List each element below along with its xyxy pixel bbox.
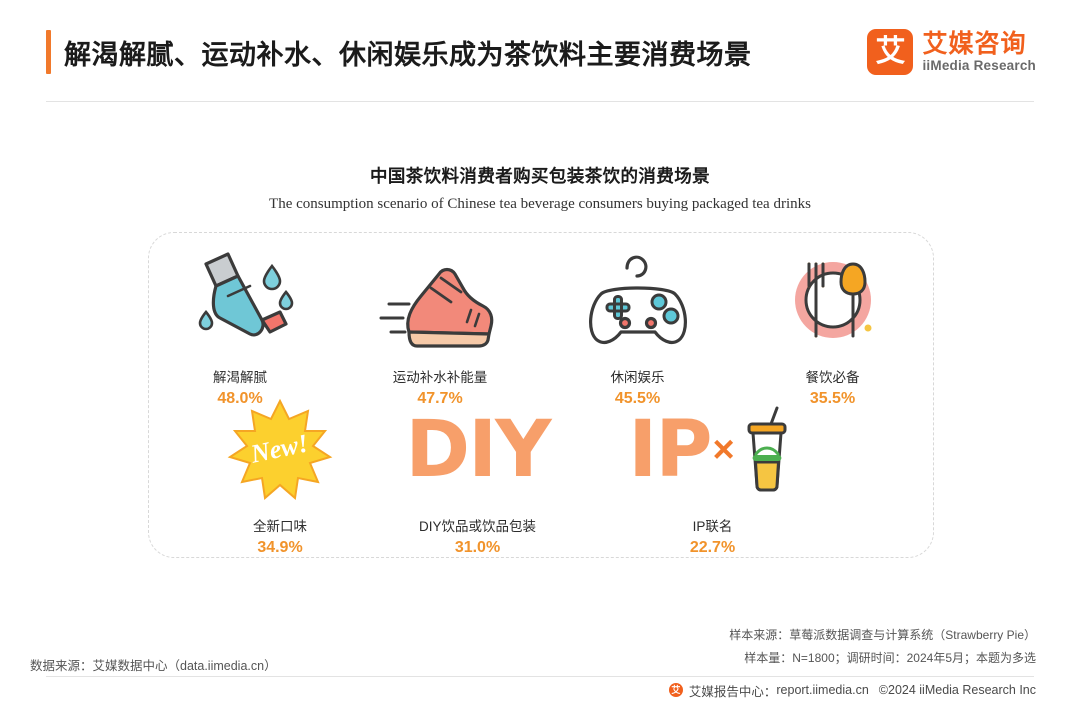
scenario-item-6: DIY DIY饮品或饮品包装 31.0% [370,395,585,557]
scenario-label-1: 解渴解腻 [150,366,330,386]
brand-logo: 艾 艾媒咨询 iiMedia Research [867,24,1036,80]
report-center-icon: 艾 [669,683,683,697]
data-source-text: 数据来源：艾媒数据中心（data.iimedia.cn） [30,655,277,674]
milk-tea-cup-icon [737,404,797,496]
footer-divider [46,676,1034,677]
diy-text-icon: DIY [370,395,585,505]
scenario-value-5: 34.9% [190,539,370,557]
scenario-value-6: 31.0% [370,539,585,557]
page-header: 解渴解腻、运动补水、休闲娱乐成为茶饮料主要消费场景 艾 艾媒咨询 iiMedia… [0,0,1080,102]
game-controller-icon [545,246,730,356]
header-divider [46,101,1034,102]
scenario-value-7: 22.7% [605,539,820,557]
page-title: 解渴解腻、运动补水、休闲娱乐成为茶饮料主要消费场景 [64,33,752,72]
report-url[interactable]: report.iimedia.cn [776,683,868,697]
new-burst-icon: New! [190,395,370,505]
report-center-label: 艾媒报告中心： [689,681,777,700]
chart-subtitle: The consumption scenario of Chinese tea … [0,196,1080,213]
scenario-label-6: DIY饮品或饮品包装 [370,515,585,535]
scenario-item-1: 解渴解腻 48.0% [150,246,330,408]
scenario-item-7: IP × IP联名 22.7% [605,395,820,557]
running-shoe-icon [340,246,540,356]
scenario-item-4: 餐饮必备 35.5% [740,246,925,408]
scenario-label-3: 休闲娱乐 [545,366,730,386]
sample-source-text: 样本来源：草莓派数据调查与计算系统（Strawberry Pie） [729,626,1036,643]
chart-title: 中国茶饮料消费者购买包装茶饮的消费场景 [0,163,1080,188]
ip-word: IP [628,411,710,489]
scenario-item-5: New! 全新口味 34.9% [190,395,370,557]
ip-collab-icon: IP × [605,395,820,505]
footer-bar: 艾 艾媒报告中心： report.iimedia.cn ©2024 iiMedi… [0,678,1080,702]
logo-text: 艾媒咨询 iiMedia Research [922,31,1036,74]
scenario-label-5: 全新口味 [190,515,370,535]
scenario-item-2: 运动补水补能量 47.7% [340,246,540,408]
scenario-label-2: 运动补水补能量 [340,366,540,386]
scenario-label-4: 餐饮必备 [740,366,925,386]
logo-name-cn: 艾媒咨询 [922,31,1036,58]
title-accent-bar [46,30,51,74]
diy-word: DIY [405,411,549,489]
plate-cutlery-icon [740,246,925,356]
scenario-label-7: IP联名 [605,515,820,535]
times-symbol: × [713,429,735,472]
logo-name-en: iiMedia Research [922,58,1036,74]
logo-mark-icon: 艾 [867,29,913,75]
scenario-item-3: 休闲娱乐 45.5% [545,246,730,408]
copyright-text: ©2024 iiMedia Research Inc [879,683,1036,697]
water-bottle-icon [150,246,330,356]
sample-size-text: 样本量：N=1800；调研时间：2024年5月；本题为多选 [744,649,1036,666]
